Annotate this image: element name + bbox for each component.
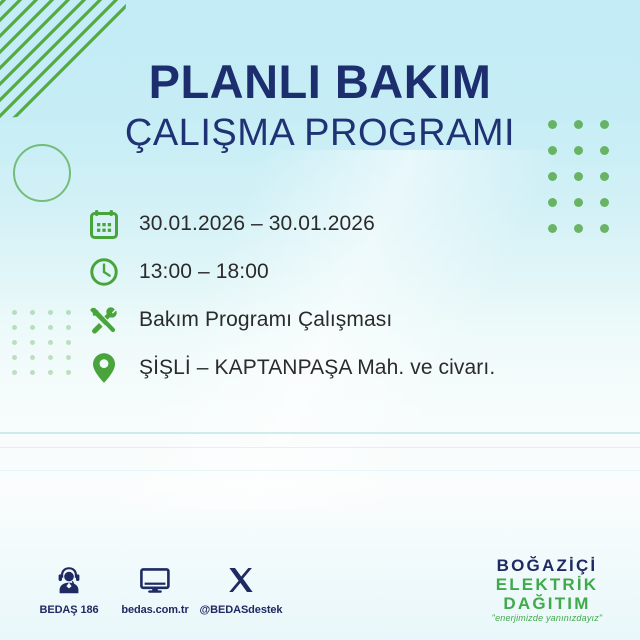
monitor-icon xyxy=(112,560,198,600)
background-band xyxy=(0,447,640,448)
dot-grid-left-decoration xyxy=(12,310,84,385)
brand-line-2: ELEKTRİK xyxy=(472,575,622,594)
detail-text-worktype: Bakım Programı Çalışması xyxy=(139,308,392,332)
contact-call-center[interactable]: BEDAŞ 186 xyxy=(26,560,112,618)
background-band xyxy=(0,470,640,471)
contact-x-social-label: @BEDASdestek xyxy=(200,604,283,616)
contact-website-label: bedas.com.tr xyxy=(121,604,188,616)
brand-line-1: BOĞAZİÇİ xyxy=(472,556,622,575)
detail-row-worktype: Bakım Programı Çalışması xyxy=(84,296,604,344)
x-social-icon xyxy=(198,560,284,600)
clock-icon xyxy=(84,252,124,292)
title-line-secondary: ÇALIŞMA PROGRAMI xyxy=(0,114,640,152)
detail-row-location: ŞİŞLİ – KAPTANPAŞA Mah. ve civarı. xyxy=(84,344,604,392)
footer-contacts: BEDAŞ 186 bedas.com.tr @BEDASdestek xyxy=(26,560,284,618)
tools-icon xyxy=(84,300,124,340)
contact-call-center-label: BEDAŞ 186 xyxy=(39,604,98,616)
background-band xyxy=(0,432,640,434)
detail-row-time: 13:00 – 18:00 xyxy=(84,248,604,296)
brand-logo: BOĞAZİÇİ ELEKTRİK DAĞITIM "enerjimizde y… xyxy=(472,556,622,623)
detail-row-date: 30.01.2026 – 30.01.2026 xyxy=(84,200,604,248)
planned-maintenance-poster: PLANLI BAKIM ÇALIŞMA PROGRAMI xyxy=(0,0,640,640)
brand-line-3: DAĞITIM xyxy=(472,594,622,613)
page-title: PLANLI BAKIM ÇALIŞMA PROGRAMI xyxy=(0,58,640,152)
contact-website[interactable]: bedas.com.tr xyxy=(112,560,198,618)
detail-text-location: ŞİŞLİ – KAPTANPAŞA Mah. ve civarı. xyxy=(139,356,495,380)
detail-text-date: 30.01.2026 – 30.01.2026 xyxy=(139,212,375,236)
title-line-primary: PLANLI BAKIM xyxy=(0,58,640,105)
maintenance-details: 30.01.2026 – 30.01.2026 13:00 – 18:00 xyxy=(84,200,604,392)
detail-text-time: 13:00 – 18:00 xyxy=(139,260,269,284)
call-center-agent-icon xyxy=(26,560,112,600)
contact-x-social[interactable]: @BEDASdestek xyxy=(198,560,284,618)
calendar-icon xyxy=(84,204,124,244)
circle-outline-decoration xyxy=(13,144,71,202)
location-pin-icon xyxy=(84,348,124,388)
brand-tagline: "enerjimizde yanınızdayız" xyxy=(472,613,622,623)
